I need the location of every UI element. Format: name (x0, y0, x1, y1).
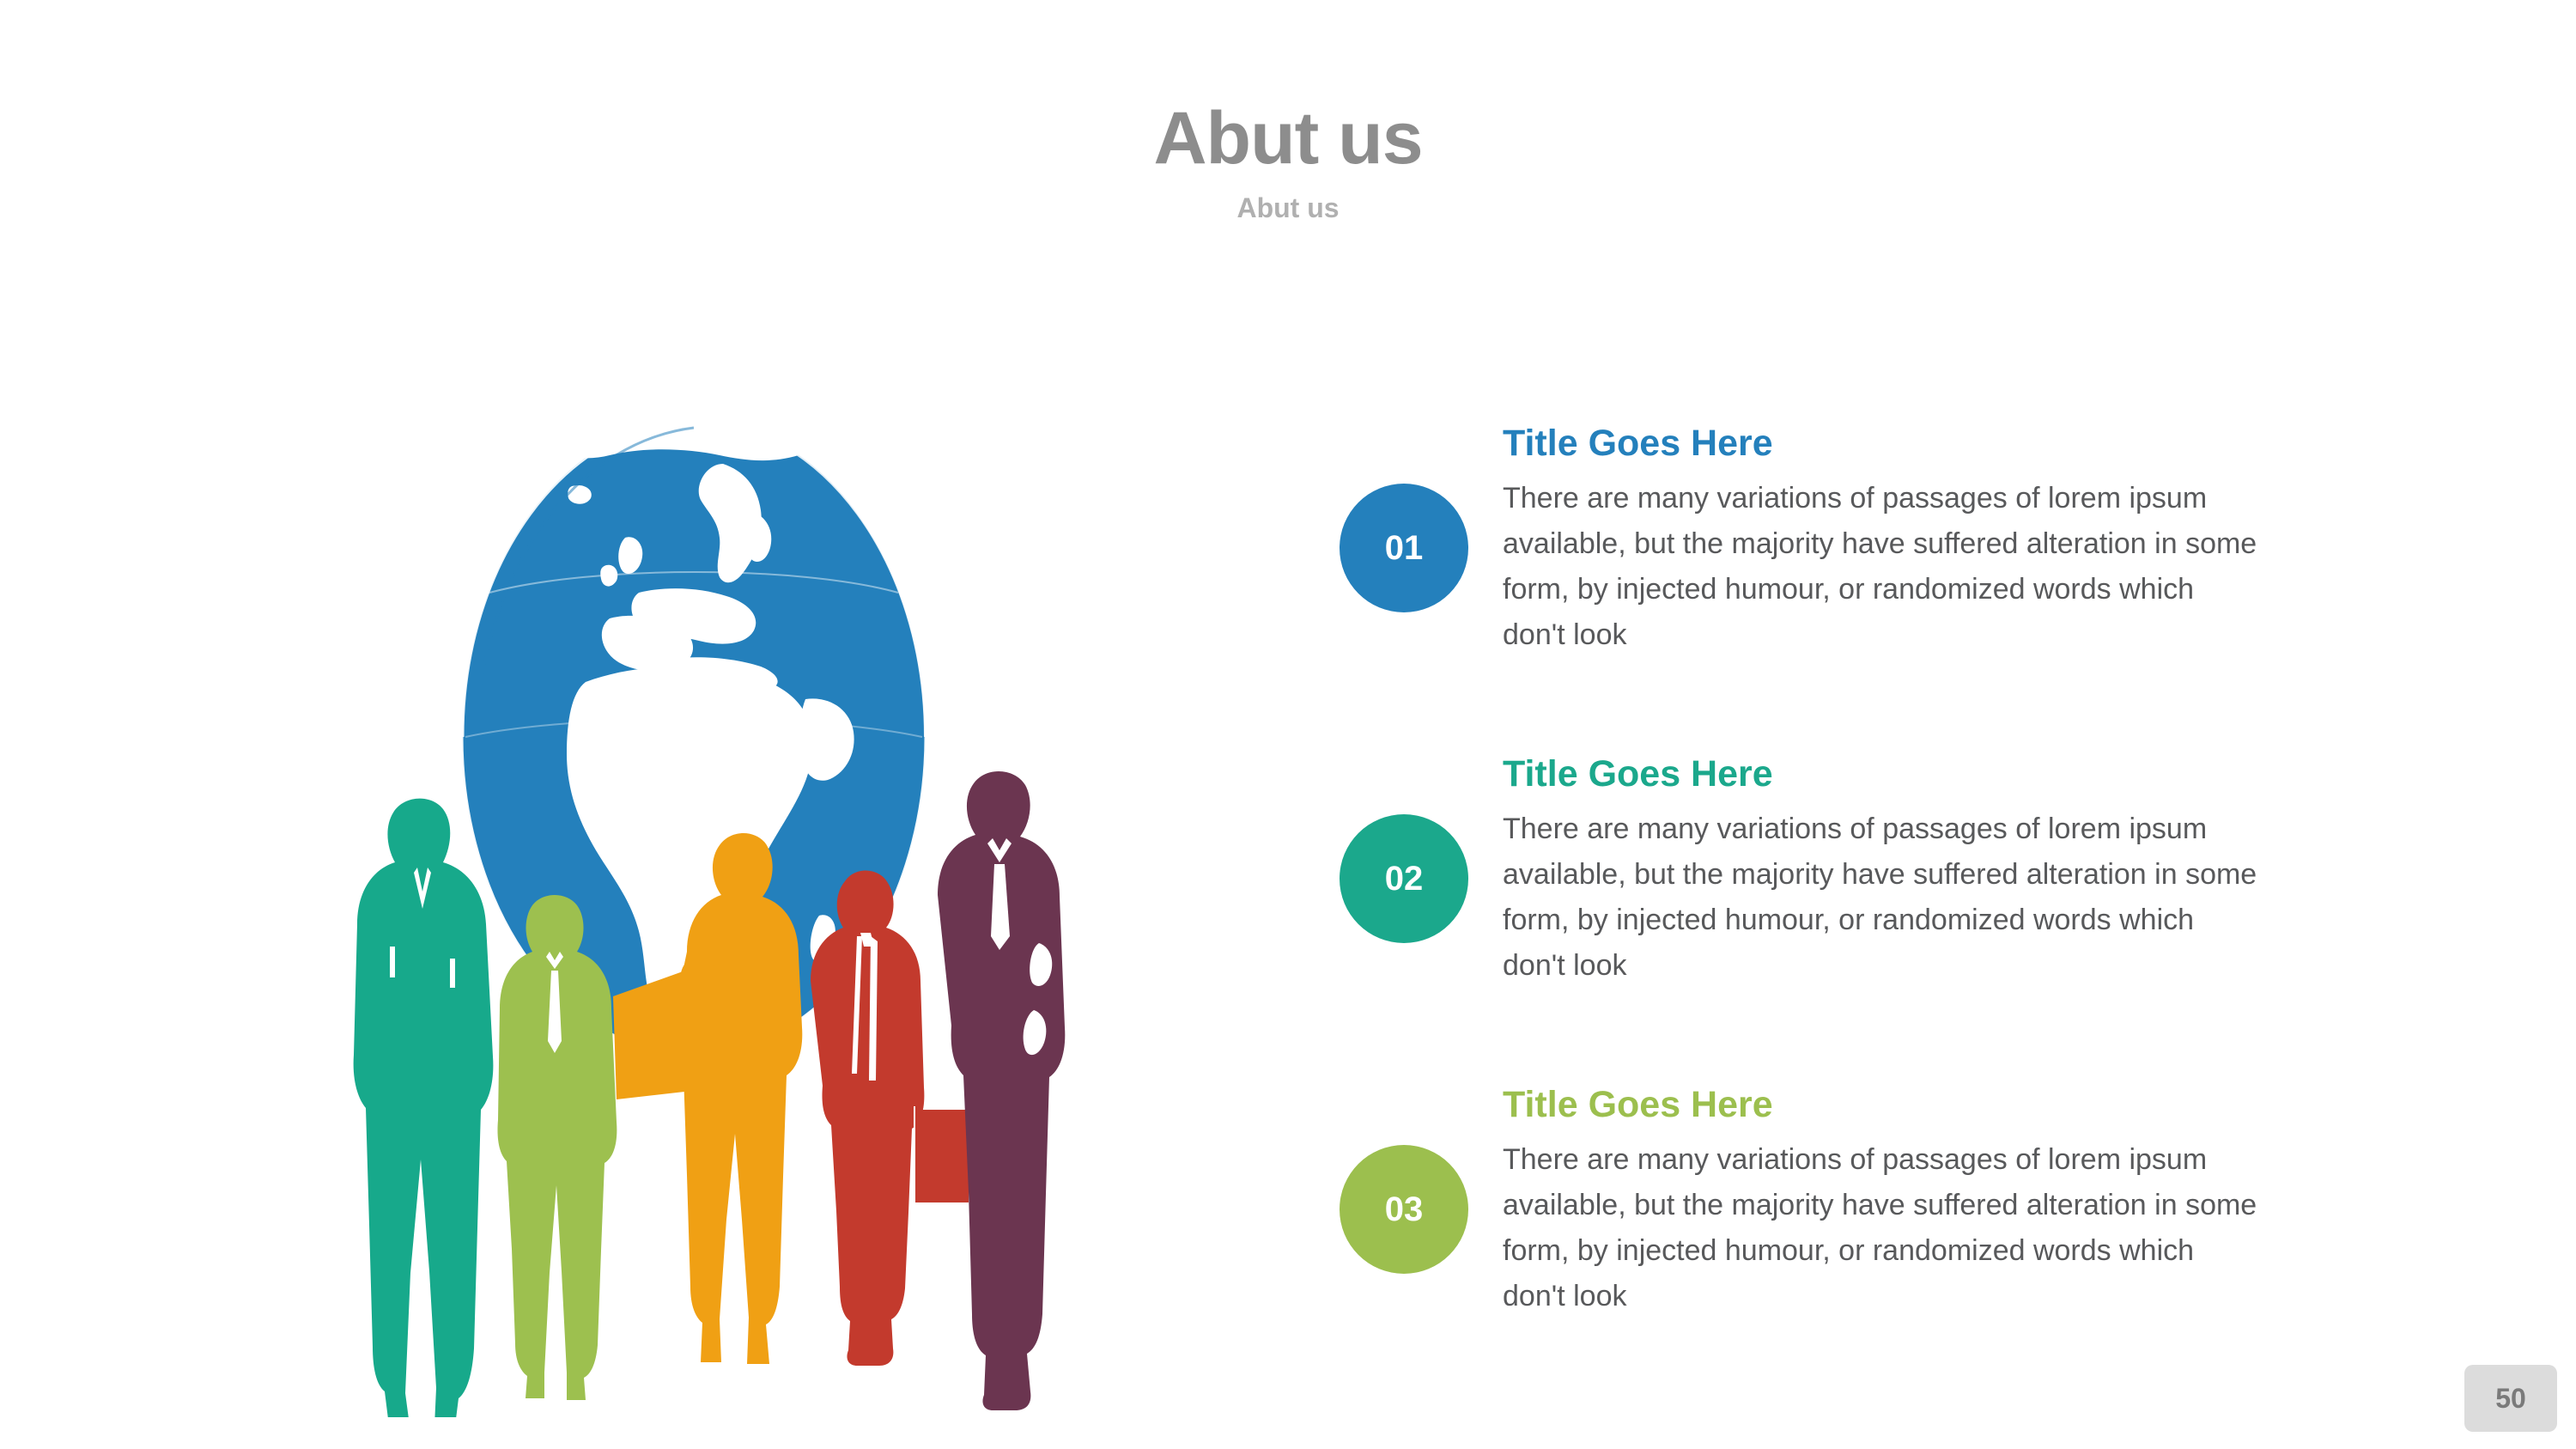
step-number-03: 03 (1385, 1190, 1424, 1229)
info-blocks-container: 01 Title Goes Here There are many variat… (1340, 425, 2456, 1344)
step-number-02: 02 (1385, 860, 1424, 898)
info-block-01-text: Title Goes Here There are many variation… (1503, 425, 2456, 658)
person-silhouette-teal (354, 799, 494, 1417)
step-circle-01[interactable]: 01 (1340, 484, 1468, 612)
step-circle-02[interactable]: 02 (1340, 814, 1468, 943)
info-block-02-text: Title Goes Here There are many variation… (1503, 756, 2456, 989)
person-silhouette-green (497, 895, 617, 1400)
info-block-03-text: Title Goes Here There are many variation… (1503, 1087, 2456, 1319)
info-block-03-title: Title Goes Here (1503, 1087, 2456, 1123)
globe-illustration (283, 335, 1142, 1417)
page-number: 50 (2495, 1383, 2526, 1415)
info-block-03-body: There are many variations of passages of… (1503, 1137, 2258, 1319)
info-block-02: 02 Title Goes Here There are many variat… (1340, 756, 2456, 1014)
info-block-03: 03 Title Goes Here There are many variat… (1340, 1087, 2456, 1344)
person-silhouette-purple (938, 771, 1065, 1410)
step-circle-03[interactable]: 03 (1340, 1145, 1468, 1274)
info-block-01-title: Title Goes Here (1503, 425, 2456, 462)
page-subtitle: Abut us (0, 194, 2576, 222)
globe-people-graphic (283, 335, 1142, 1417)
info-block-02-title: Title Goes Here (1503, 756, 2456, 793)
info-block-01: 01 Title Goes Here There are many variat… (1340, 425, 2456, 683)
step-number-01: 01 (1385, 529, 1424, 568)
info-block-02-body: There are many variations of passages of… (1503, 807, 2258, 989)
info-block-01-body: There are many variations of passages of… (1503, 476, 2258, 658)
page-title: Abut us (0, 101, 2576, 175)
page-number-badge: 50 (2464, 1365, 2557, 1432)
slide-header: Abut us Abut us (0, 101, 2576, 222)
